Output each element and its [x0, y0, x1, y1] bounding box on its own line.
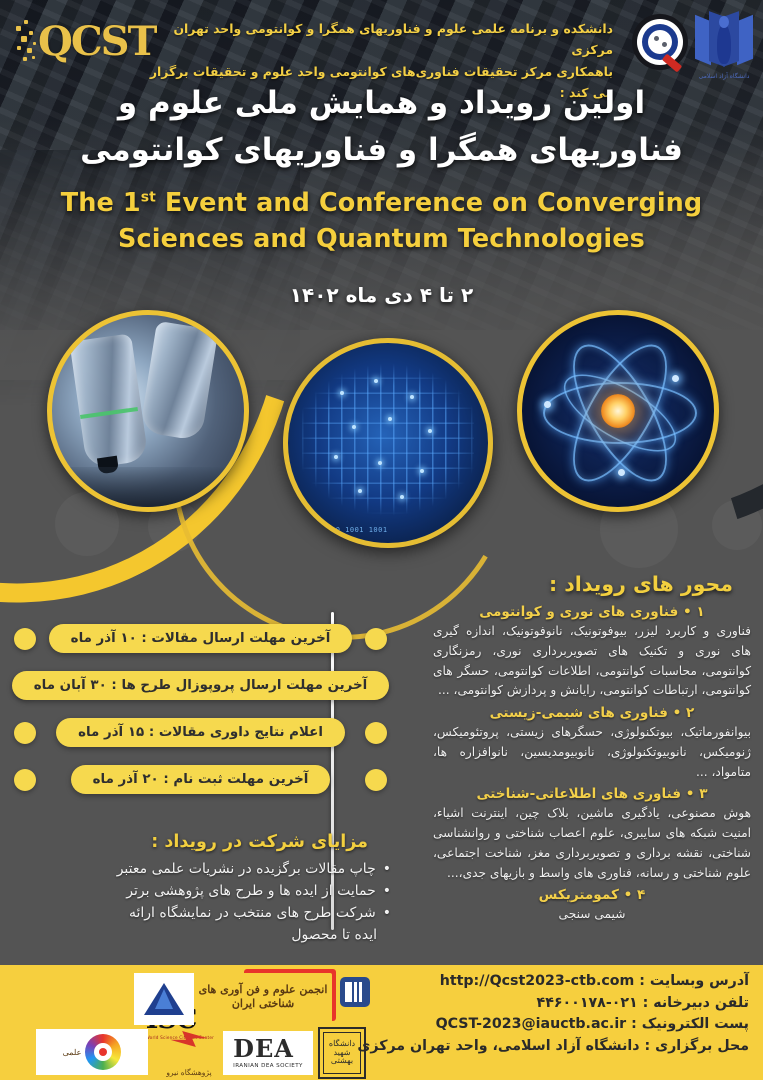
email-value[interactable]: QCST-2023@iauctb.ac.ir [436, 1016, 627, 1032]
phone-label: تلفن دبیرخانه : [643, 995, 749, 1011]
deadline-row: اعلام نتایج داوری مقالات : ۱۵ آذر ماه [8, 709, 393, 756]
deadline-row: آخرین مهلت ثبت نام : ۲۰ آذر ماه [8, 756, 393, 803]
topic-body: هوش مصنوعی، یادگیری ماشین، بلاک چین، این… [433, 804, 751, 883]
pill-dot-right [365, 769, 387, 791]
deadline-row: آخرین مهلت ارسال مقالات : ۱۰ آذر ماه [8, 615, 393, 662]
event-date: ۲ تا ۴ دی ماه ۱۴۰۲ [0, 283, 763, 307]
atom-image [517, 310, 719, 512]
cognitive-society-logo [134, 973, 194, 1025]
phone-value: ۰۲۱-۴۴۶۰۰۱۷۸ [537, 995, 638, 1011]
dea-society-logo: DEA IRANIAN DEA SOCIETY [223, 1031, 313, 1075]
topic-item: ۳ • فناوری های اطلاعاتی-شناختی هوش مصنوع… [433, 786, 751, 883]
english-title-line-1: The 1st Event and Conference on Convergi… [0, 185, 763, 221]
circuit-brain-image: 0110 0100 1001 1001 [283, 338, 493, 548]
venue-value: دانشگاه آزاد اسلامی، واحد تهران مرکزی [357, 1038, 639, 1054]
topic-title-text: • فناوری های نوری و کوانتومی [479, 604, 691, 620]
dea-logo-subtitle: IRANIAN DEA SOCIETY [233, 1063, 303, 1069]
contact-info: آدرس وبسایت : http://Qcst2023-ctb.com تل… [349, 971, 749, 1057]
website-value[interactable]: http://Qcst2023-ctb.com [440, 973, 635, 989]
english-title-ordinal-pre: The 1 [61, 188, 141, 218]
benefit-text: حمایت از ایده ها و طرح های پژوهشی برتر [126, 880, 375, 902]
cognitive-society-name: انجمن علوم و فن آوری های شناختی ایران [198, 983, 328, 1012]
english-title-line-2: Sciences and Quantum Technologies [0, 221, 763, 257]
benefit-text: شرکت طرح های منتخب در نمایشگاه ارائه [129, 902, 376, 924]
topic-title-text: • فناوری های شیمی-زیستی [490, 705, 682, 721]
contact-website-row: آدرس وبسایت : http://Qcst2023-ctb.com [349, 971, 749, 993]
website-label: آدرس وبسایت : [639, 973, 749, 989]
deadline-pill: آخرین مهلت ارسال پروپوزال طرح ها : ۳۰ آب… [12, 671, 389, 700]
benefit-item: • چاپ مقالات برگزیده در نشریات علمی معتب… [26, 858, 391, 880]
persian-title: اولین رویداد و همایش ملی علوم و فناوریها… [0, 80, 763, 174]
topic-item: ۴ • کمومتریکس شیمی سنجی [433, 887, 751, 925]
topic-item: ۱ • فناوری های نوری و کوانتومی فناوری و … [433, 604, 751, 701]
english-title: The 1st Event and Conference on Convergi… [0, 185, 763, 257]
deadline-pill: آخرین مهلت ارسال مقالات : ۱۰ آذر ماه [49, 624, 353, 653]
topic-body: فناوری و کاربرد لیزر، بیوفوتونیک، نانوفو… [433, 622, 751, 701]
english-title-main-1: Event and Conference on Converging [165, 188, 702, 218]
conference-poster: QCST دانشکده و برنامه علمی علوم و فناوری… [0, 0, 763, 1080]
persian-title-line-1: اولین رویداد و همایش ملی علوم و [0, 80, 763, 127]
benefits-list: • چاپ مقالات برگزیده در نشریات علمی معتب… [26, 858, 391, 946]
topics-heading: محور های رویداد : [433, 572, 733, 596]
bullet-icon: • [383, 880, 391, 902]
sponsor-logos: ISC Islamic World Science Citation Cente… [6, 969, 336, 1077]
email-label: پست الکترونیک : [631, 1016, 749, 1032]
host-line-1: دانشکده و برنامه علمی علوم و فناوریهای ه… [133, 18, 613, 61]
venue-label: محل برگزاری : [645, 1038, 750, 1054]
topic-number: ۴ [637, 887, 645, 903]
deadline-row: آخرین مهلت ارسال پروپوزال طرح ها : ۳۰ آب… [8, 662, 393, 709]
pill-dot-right [365, 722, 387, 744]
pill-dot-left [14, 722, 36, 744]
azad-logo-caption: دانشگاه آزاد اسلامی [693, 73, 755, 80]
topic-title-text: • کمومتریکس [539, 887, 633, 903]
contact-phone-row: تلفن دبیرخانه : ۰۲۱-۴۴۶۰۰۱۷۸ [349, 993, 749, 1015]
qcst-logo: QCST [14, 12, 142, 74]
benefit-text: چاپ مقالات برگزیده در نشریات علمی معتبر [117, 858, 376, 880]
science-ministry-name: علمی [63, 1048, 82, 1057]
dea-logo-text: DEA [233, 1037, 303, 1061]
microscope-image [47, 310, 249, 512]
footer-bar: ISC Islamic World Science Citation Cente… [0, 965, 763, 1080]
persian-title-line-2: فناوریهای همگرا و فناوریهای کوانتومی [0, 127, 763, 174]
bullet-icon: • [383, 858, 391, 880]
english-title-ordinal-suffix: st [141, 190, 156, 206]
deadline-pill: اعلام نتایج داوری مقالات : ۱۵ آذر ماه [56, 718, 345, 747]
pill-dot-left [14, 769, 36, 791]
niroo-research-name: پژوهشگاه نیرو [158, 1068, 220, 1077]
topic-number: ۱ [696, 604, 704, 620]
topic-body: بیوانفورماتیک، بیوتکنولوژی، حسگرهای زیست… [433, 723, 751, 782]
science-ministry-logo: علمی [36, 1029, 148, 1075]
bullet-icon: • [383, 902, 391, 924]
pill-dot-left [14, 628, 36, 650]
azad-university-logo: دانشگاه آزاد اسلامی [693, 10, 755, 82]
topic-number: ۲ [686, 705, 694, 721]
benefit-item: • شرکت طرح های منتخب در نمایشگاه ارائه [26, 902, 391, 924]
sponsor-logos-row-2: علمی پژوهشگاه نیرو DEA IRANIAN DEA SOCIE… [18, 1029, 338, 1077]
deadlines-list: آخرین مهلت ارسال مقالات : ۱۰ آذر ماه آخر… [8, 615, 393, 803]
contact-venue-row: محل برگزاری : دانشگاه آزاد اسلامی، واحد … [349, 1036, 749, 1058]
benefit-item: • حمایت از ایده ها و طرح های پژوهشی برتر [26, 880, 391, 902]
topics-list: ۱ • فناوری های نوری و کوانتومی فناوری و … [433, 600, 751, 925]
benefit-continuation: ایده تا محصول [26, 924, 391, 946]
binary-digits: 0110 0100 1001 1001 [298, 526, 388, 535]
topic-body: شیمی سنجی [433, 905, 751, 925]
pill-dot-right [365, 628, 387, 650]
benefits-heading: مزایای شرکت در رویداد : [28, 832, 368, 852]
topic-title-text: • فناوری های اطلاعاتی-شناختی [476, 786, 694, 802]
topic-number: ۳ [699, 786, 707, 802]
niroo-research-logo: پژوهشگاه نیرو [158, 1029, 220, 1077]
qcst-circular-logo [632, 14, 688, 70]
topic-item: ۲ • فناوری های شیمی-زیستی بیوانفورماتیک،… [433, 705, 751, 782]
deadline-pill: آخرین مهلت ثبت نام : ۲۰ آذر ماه [71, 765, 331, 794]
contact-email-row: پست الکترونیک : QCST-2023@iauctb.ac.ir [349, 1014, 749, 1036]
